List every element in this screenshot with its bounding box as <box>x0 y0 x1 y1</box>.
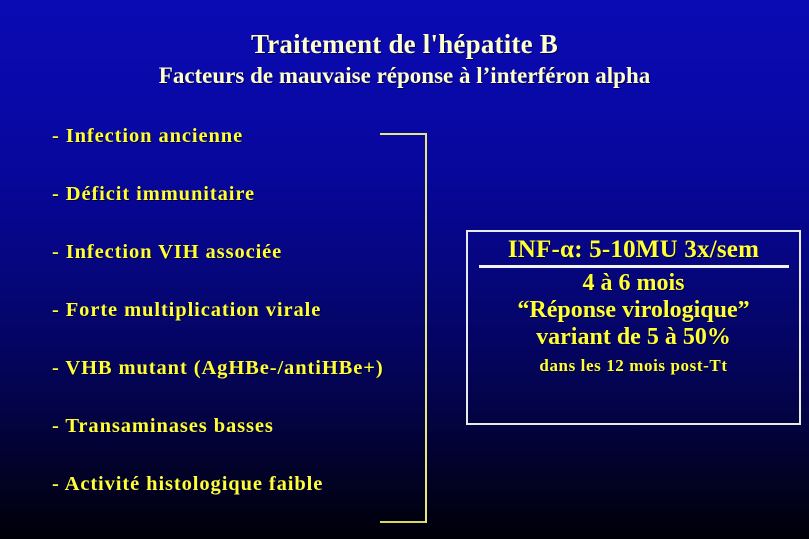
slide-canvas: Traitement de l'hépatite B Facteurs de m… <box>0 0 809 539</box>
list-item: - VHB mutant (AgHBe-/antiHBe+) <box>52 354 432 412</box>
info-box-response-range: variant de 5 à 50% <box>468 324 799 351</box>
treatment-info-box: INF-α: 5-10MU 3x/sem 4 à 6 mois “Réponse… <box>466 230 801 425</box>
list-item: - Déficit immunitaire <box>52 180 432 238</box>
list-item: - Activité histologique faible <box>52 470 432 528</box>
info-box-divider <box>479 265 789 268</box>
info-box-footnote: dans les 12 mois post-Tt <box>468 355 799 377</box>
title-block: Traitement de l'hépatite B Facteurs de m… <box>0 30 809 88</box>
info-box-duration: 4 à 6 mois <box>468 270 799 297</box>
info-box-heading: INF-α: 5-10MU 3x/sem <box>468 236 799 264</box>
list-item: - Forte multiplication virale <box>52 296 432 354</box>
bullet-list: - Infection ancienne - Déficit immunitai… <box>52 122 432 528</box>
list-item: - Infection VIH associée <box>52 238 432 296</box>
page-title: Traitement de l'hépatite B <box>0 30 809 59</box>
list-item: - Infection ancienne <box>52 122 432 180</box>
page-subtitle: Facteurs de mauvaise réponse à l’interfé… <box>0 63 809 88</box>
list-item: - Transaminases basses <box>52 412 432 470</box>
info-box-response-label: “Réponse virologique” <box>468 297 799 324</box>
